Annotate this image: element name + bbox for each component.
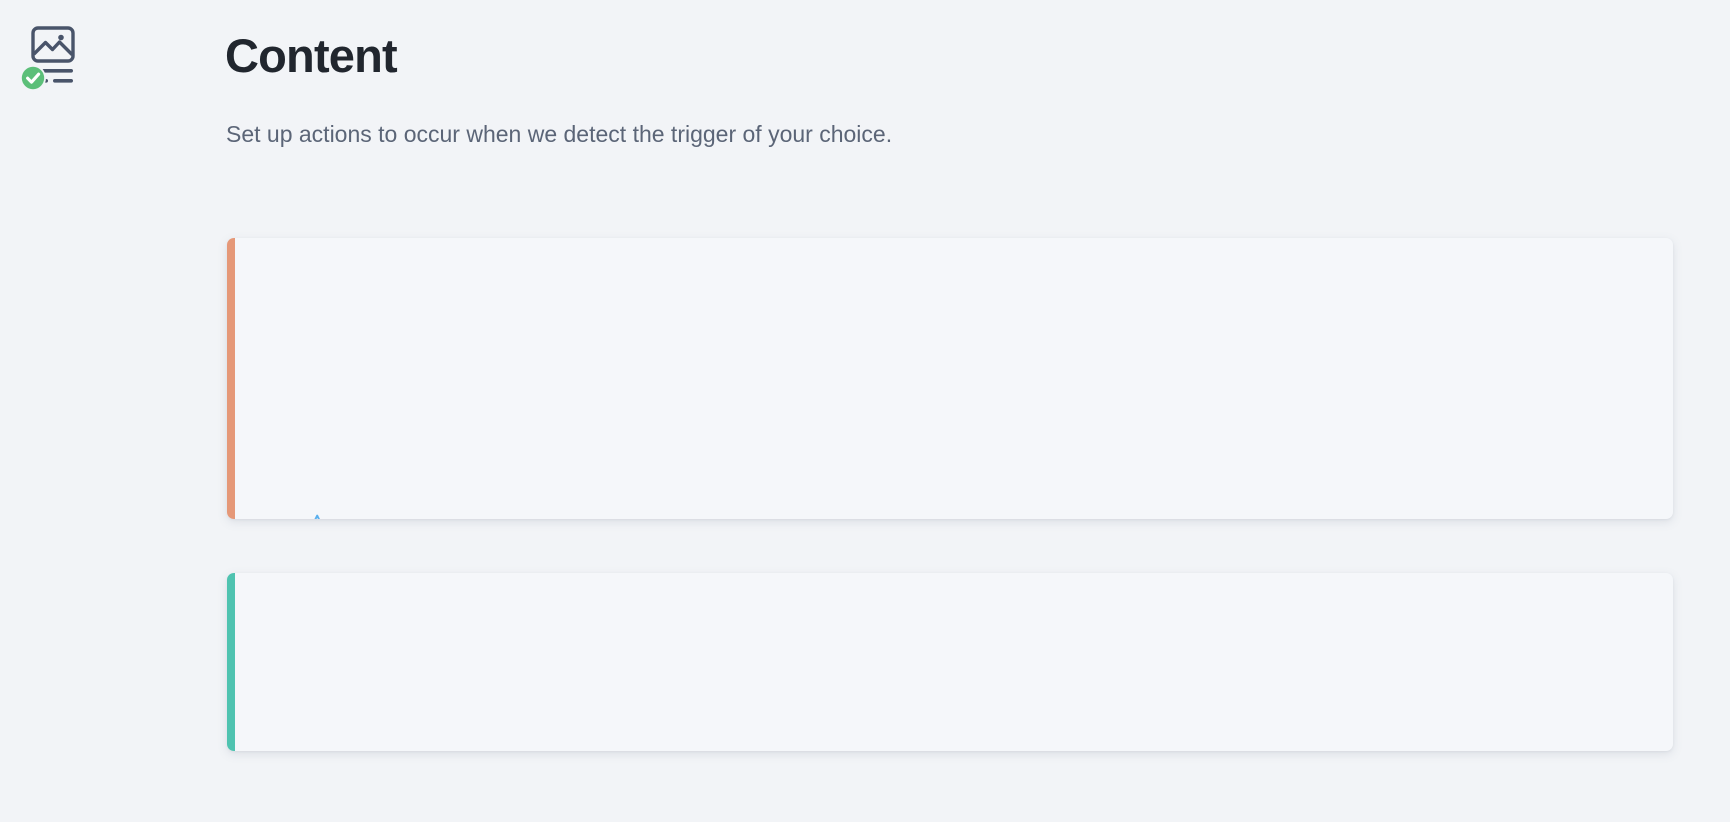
trigger-card-title: Trigger: Price drop [377,516,601,519]
image-with-check-icon [20,22,82,94]
send-email-card[interactable]: Send email Craft an email to inform cust… [227,573,1673,751]
content-page: Content Set up actions to occur when we … [0,0,1730,822]
send-email-card-accent-bar [227,573,235,751]
trigger-card[interactable]: Trigger: Price drop Action is triggered … [227,238,1673,519]
trigger-card-header: Trigger: Price drop [305,514,601,519]
trigger-card-accent-bar [227,238,235,519]
tap-star-icon [305,514,339,519]
page-subtitle: Set up actions to occur when we detect t… [226,118,892,150]
page-title: Content [225,25,397,87]
